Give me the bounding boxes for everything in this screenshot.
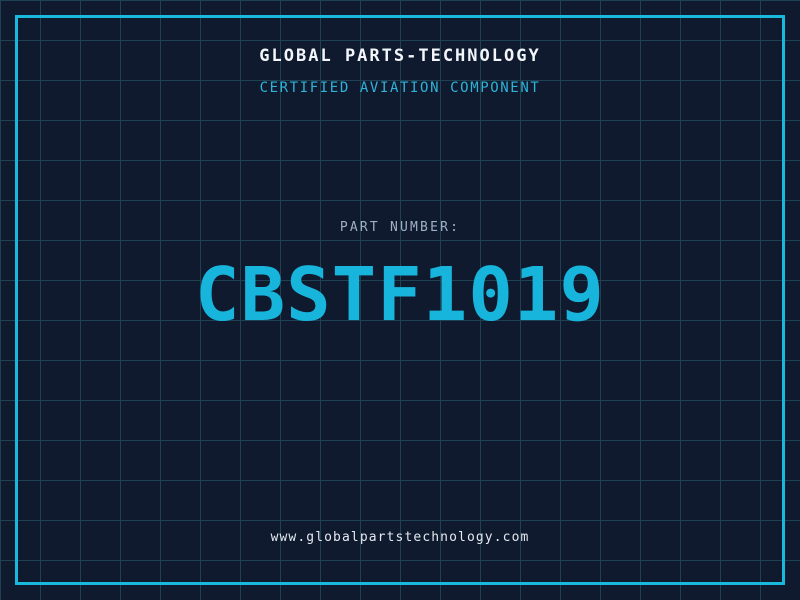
website-url: www.globalpartstechnology.com [0, 531, 800, 544]
brand-title: GLOBAL PARTS-TECHNOLOGY [0, 48, 800, 65]
card-content: GLOBAL PARTS-TECHNOLOGY CERTIFIED AVIATI… [0, 0, 800, 600]
part-number-label: PART NUMBER: [0, 221, 800, 234]
parts-technology-card: GLOBAL PARTS-TECHNOLOGY CERTIFIED AVIATI… [0, 0, 800, 600]
part-number-value: CBSTF1019 [0, 258, 800, 332]
brand-subtitle: CERTIFIED AVIATION COMPONENT [0, 81, 800, 95]
